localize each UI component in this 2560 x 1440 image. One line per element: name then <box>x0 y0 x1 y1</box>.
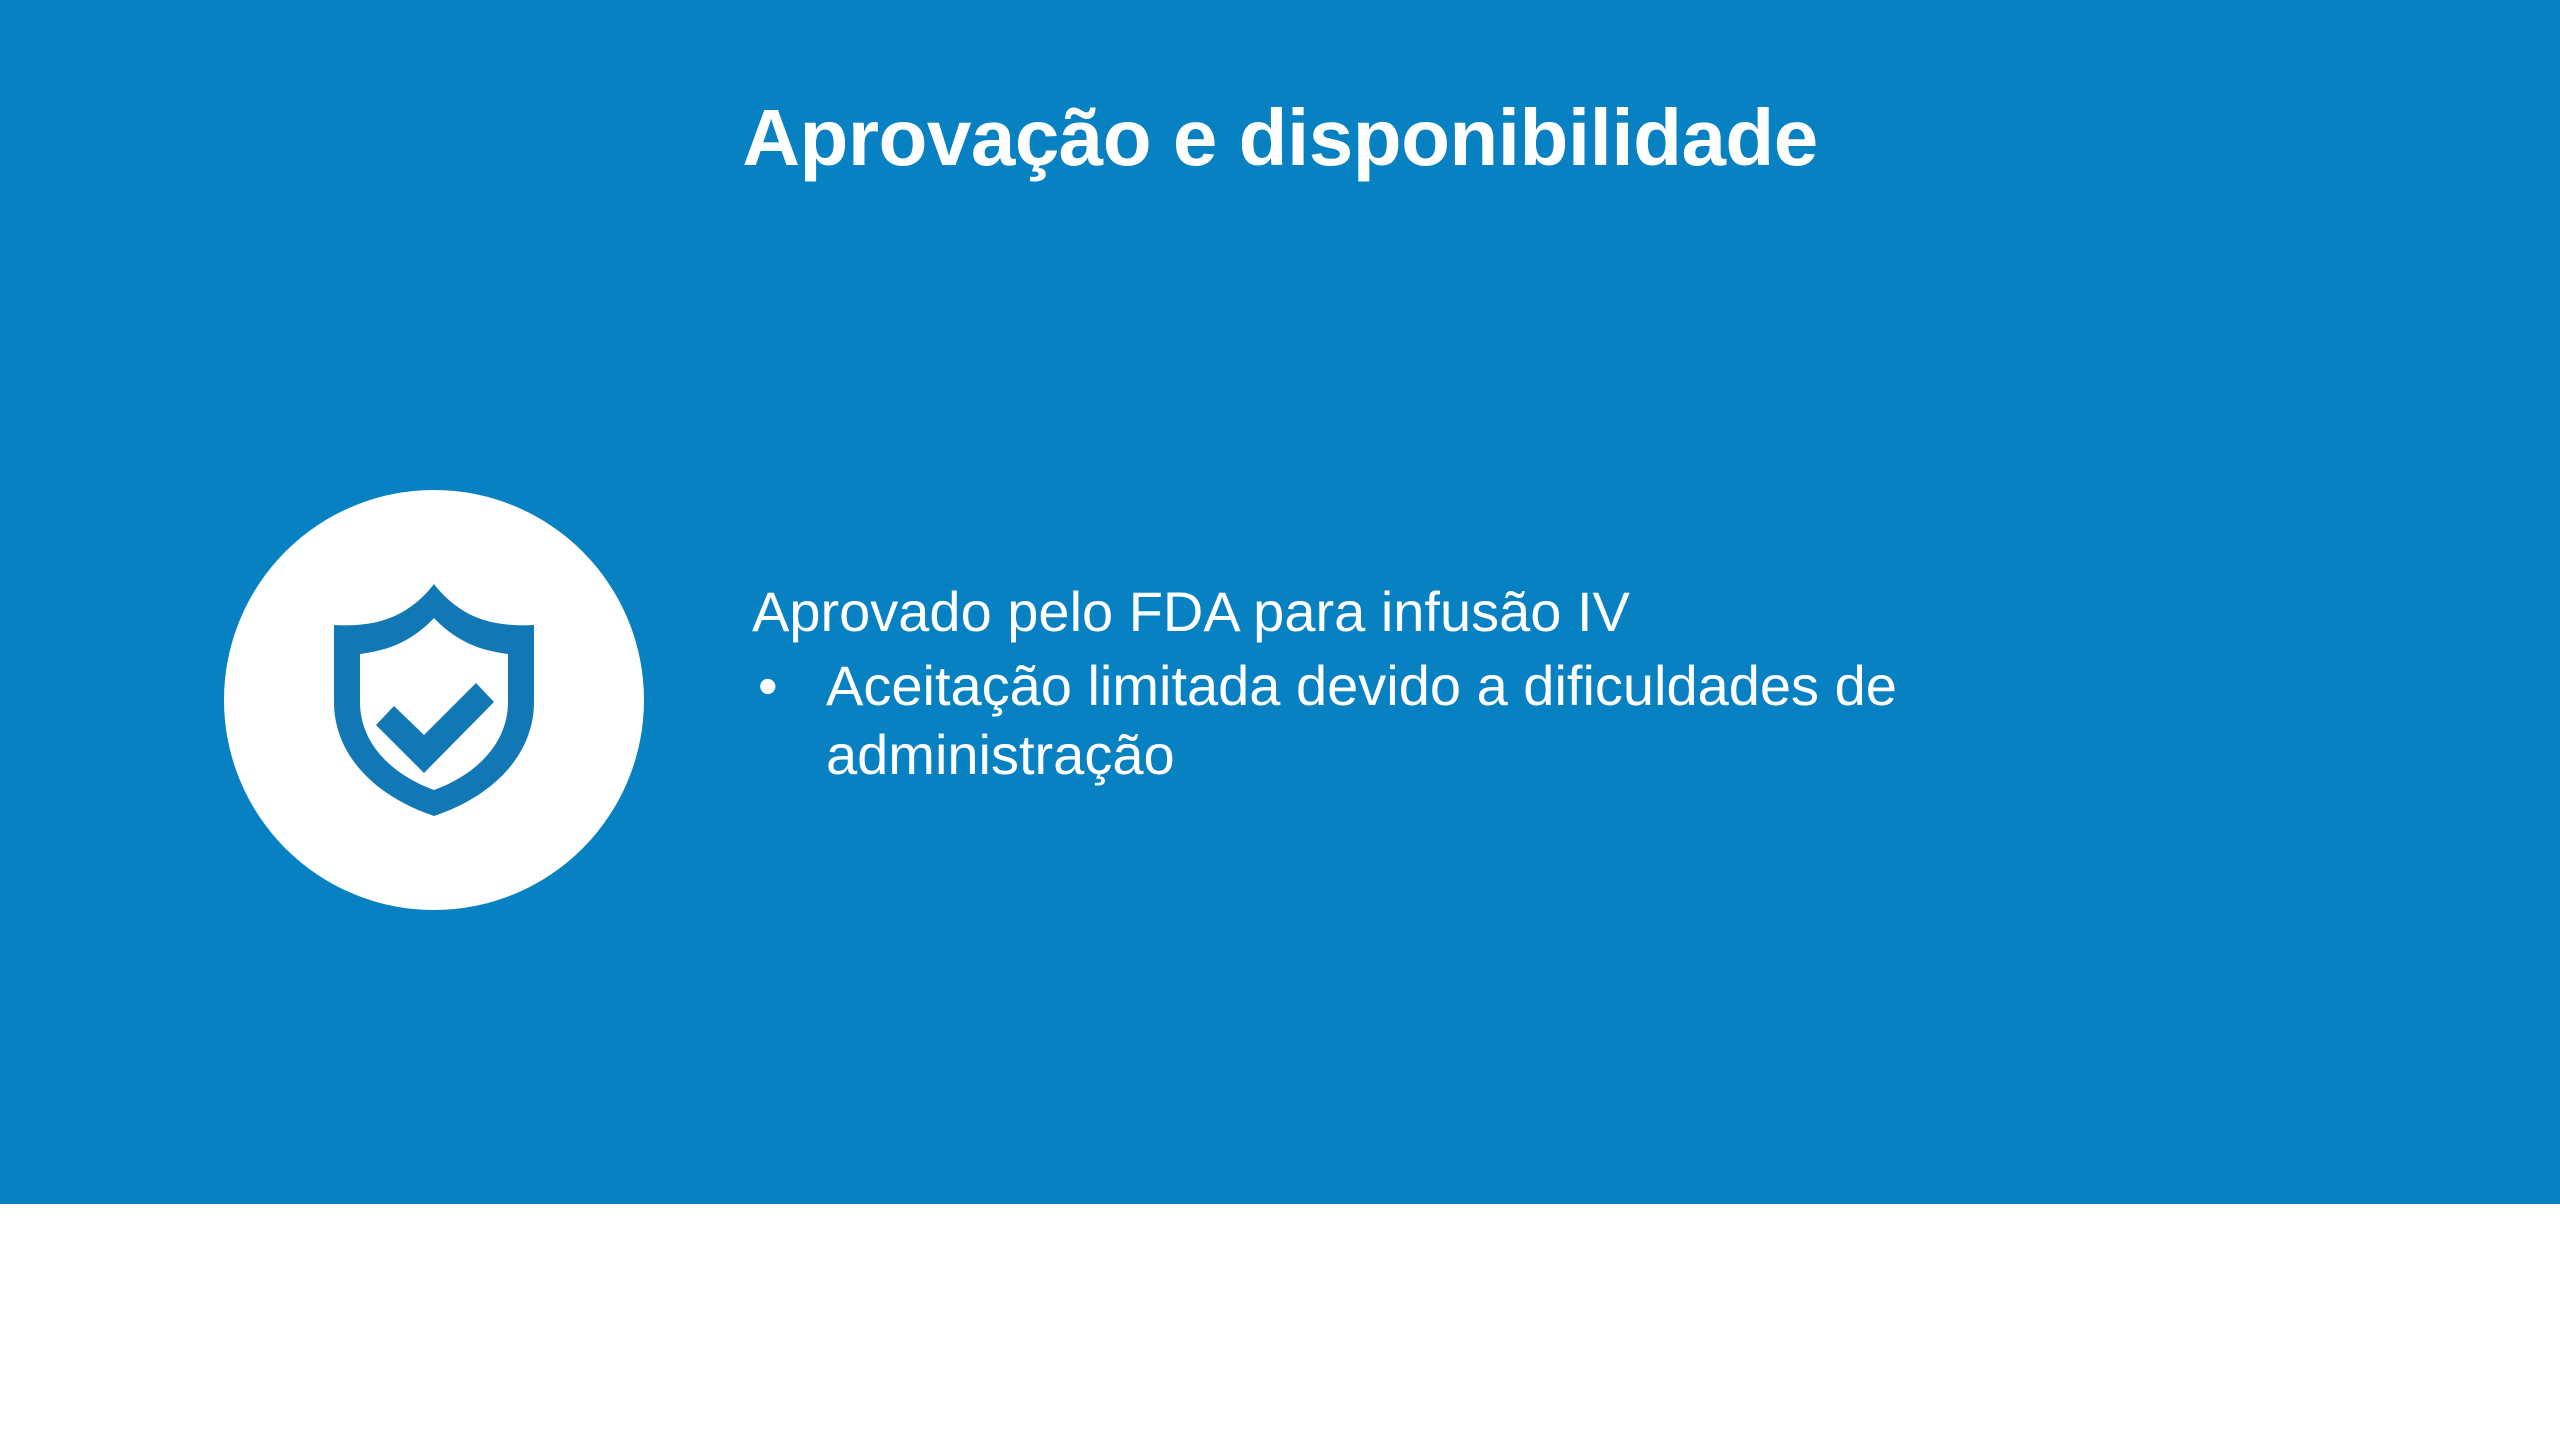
slide-footer: Patterson, R., Balan, I., Morrow, A. L.,… <box>0 1204 2560 1440</box>
slide-canvas: Aprovação e disponibilidade Aprovado pel… <box>0 0 2560 1440</box>
page-title: Aprovação e disponibilidade <box>0 92 2560 184</box>
lead-statement: Aprovado pelo FDA para infusão IV <box>752 578 2222 646</box>
bullet-list: • Aceitação limitada devido a dificuldad… <box>752 652 2222 789</box>
list-item-label: Aceitação limitada devido a dificuldades… <box>826 654 1897 785</box>
list-item: • Aceitação limitada devido a dificuldad… <box>752 652 2222 789</box>
bullet-marker-icon: • <box>758 652 778 720</box>
body-content: Aprovado pelo FDA para infusão IV • Acei… <box>752 578 2222 789</box>
icon-badge <box>224 490 644 910</box>
shield-check-icon <box>330 584 538 816</box>
